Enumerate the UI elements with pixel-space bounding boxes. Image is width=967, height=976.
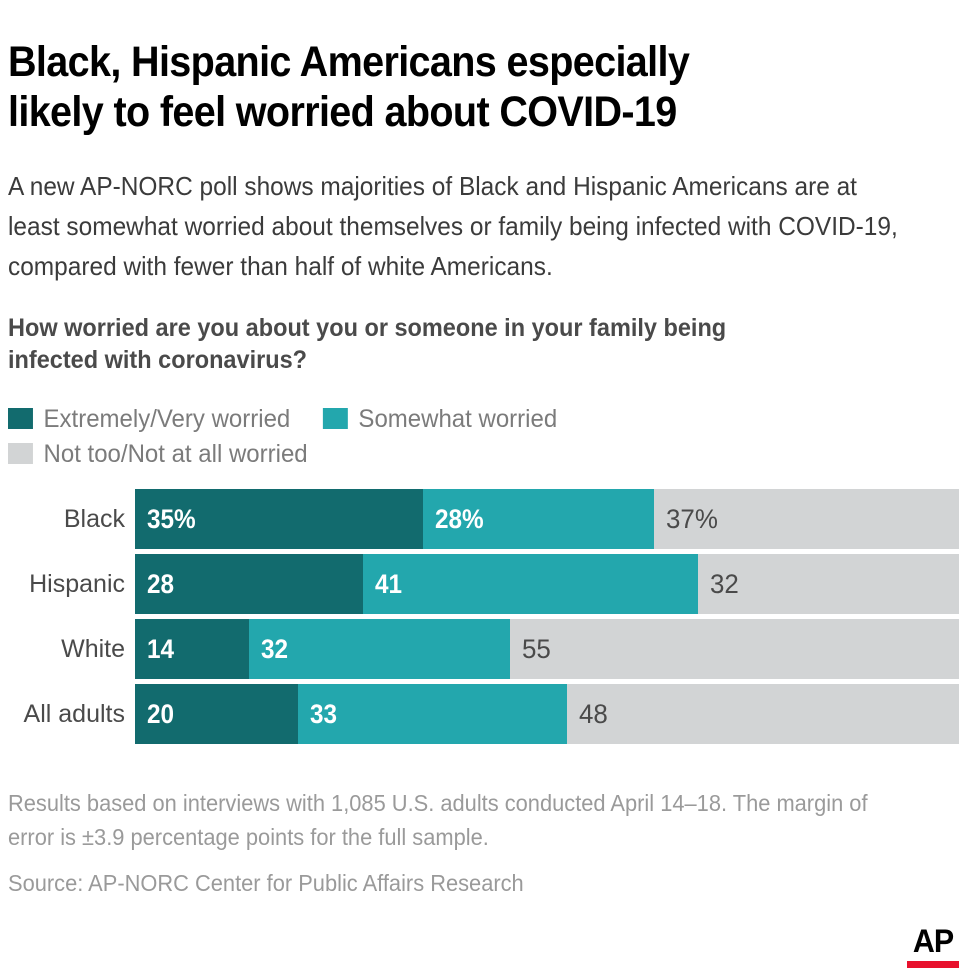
bar-segment-value: 48 <box>579 700 608 728</box>
bar-segment-extremely-very-worried: 14 <box>135 619 249 679</box>
bar-segment-value: 37% <box>666 505 718 533</box>
bar-segment-not-worried: 32 <box>698 554 959 614</box>
bar-track-all-adults: 20 33 48 <box>135 684 959 744</box>
bar-category-label-black: Black <box>8 489 135 549</box>
page-title: Black, Hispanic Americans especially lik… <box>8 29 883 137</box>
bar-segment-not-worried: 55 <box>510 619 959 679</box>
legend-label-somewhat-worried: Somewhat worried <box>358 406 557 432</box>
bar-segment-extremely-very-worried: 28 <box>135 554 363 614</box>
methodology-note: Results based on interviews with 1,085 U… <box>8 786 911 854</box>
bar-row: Hispanic 28 41 32 <box>8 554 959 614</box>
bar-segment-somewhat-worried: 28% <box>423 489 654 549</box>
legend-item-somewhat-worried: Somewhat worried <box>323 406 557 432</box>
ap-logo: AP <box>907 925 959 968</box>
legend-swatch-icon-extremely-very-worried <box>8 408 33 429</box>
bar-segment-value: 32 <box>261 635 288 663</box>
legend-item-not-worried: Not too/Not at all worried <box>8 441 308 467</box>
stacked-bar-chart: Black 35% 28% 37% Hispanic 28 4 <box>8 489 959 744</box>
poll-question: How worried are you about you or someone… <box>8 312 902 376</box>
legend-swatch-icon-not-worried <box>8 443 33 464</box>
bar-segment-somewhat-worried: 41 <box>363 554 697 614</box>
bar-segment-value: 14 <box>147 635 174 663</box>
source-line: Source: AP-NORC Center for Public Affair… <box>8 866 911 900</box>
legend-item-extremely-very-worried: Extremely/Very worried <box>8 406 290 432</box>
legend-row-primary: Extremely/Very worried Somewhat worried <box>8 406 921 432</box>
legend-swatch-icon-somewhat-worried <box>323 408 348 429</box>
legend-row-secondary: Not too/Not at all worried <box>8 441 921 467</box>
ap-logo-text: AP <box>908 925 957 957</box>
bar-segment-value: 28% <box>435 505 484 533</box>
bar-segment-value: 20 <box>147 700 174 728</box>
chart-legend: Extremely/Very worried Somewhat worried … <box>8 406 921 467</box>
infographic: Black, Hispanic Americans especially lik… <box>0 29 967 976</box>
bar-category-label-white: White <box>8 619 135 679</box>
bar-row: White 14 32 55 <box>8 619 959 679</box>
bar-segment-value: 35% <box>147 505 196 533</box>
bar-segment-somewhat-worried: 33 <box>298 684 567 744</box>
bar-track-hispanic: 28 41 32 <box>135 554 959 614</box>
legend-label-extremely-very-worried: Extremely/Very worried <box>44 406 291 432</box>
bar-category-label-all-adults: All adults <box>8 684 135 744</box>
summary-paragraph: A new AP-NORC poll shows majorities of B… <box>8 166 902 286</box>
bar-segment-value: 32 <box>710 570 739 598</box>
legend-label-not-worried: Not too/Not at all worried <box>44 441 308 467</box>
bar-segment-not-worried: 37% <box>654 489 959 549</box>
bar-track-black: 35% 28% 37% <box>135 489 959 549</box>
bar-category-label-hispanic: Hispanic <box>8 554 135 614</box>
bar-segment-not-worried: 48 <box>567 684 959 744</box>
bar-row: Black 35% 28% 37% <box>8 489 959 549</box>
bar-segment-value: 55 <box>522 635 551 663</box>
bar-segment-value: 41 <box>375 570 402 598</box>
bar-segment-extremely-very-worried: 35% <box>135 489 423 549</box>
bar-segment-value: 28 <box>147 570 174 598</box>
bar-segment-extremely-very-worried: 20 <box>135 684 298 744</box>
ap-logo-bar-icon <box>907 961 959 968</box>
chart-footer: Results based on interviews with 1,085 U… <box>8 786 911 900</box>
bar-segment-value: 33 <box>310 700 337 728</box>
bar-row: All adults 20 33 48 <box>8 684 959 744</box>
bar-track-white: 14 32 55 <box>135 619 959 679</box>
bar-segment-somewhat-worried: 32 <box>249 619 510 679</box>
